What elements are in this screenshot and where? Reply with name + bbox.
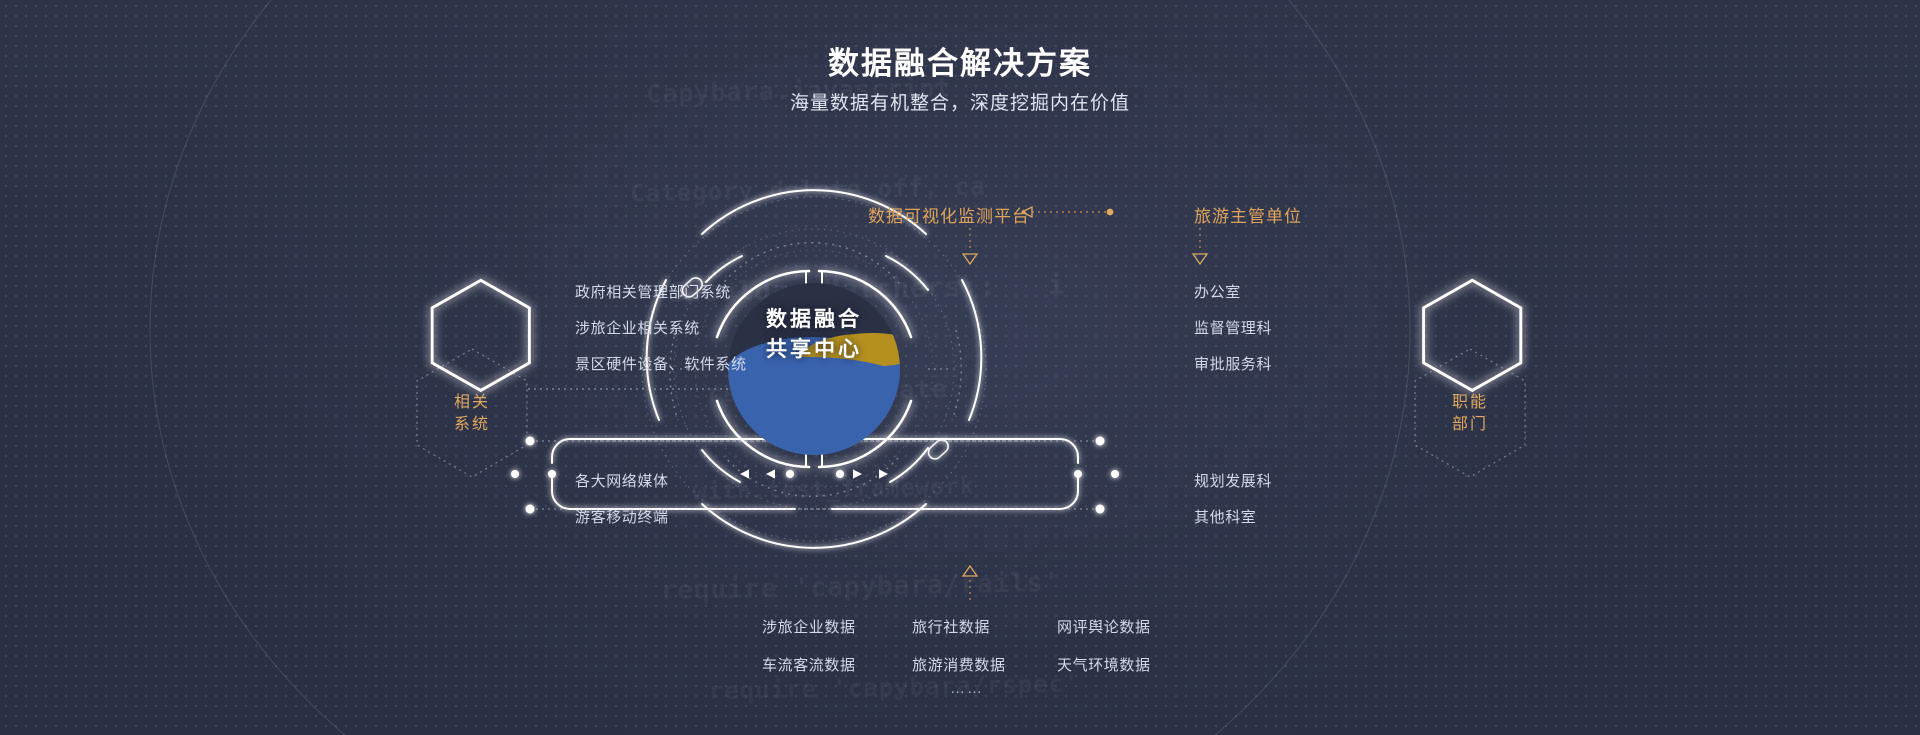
right-label-office[interactable]: 办公室 xyxy=(1194,281,1241,302)
left-label-tourist-mobile-terminal[interactable]: 游客移动终端 xyxy=(575,506,669,527)
left-arrow-head-2 xyxy=(766,469,775,478)
outer-arc-right xyxy=(962,280,981,420)
left-label-tourism-enterprise-systems[interactable]: 涉旅企业相关系统 xyxy=(575,317,700,338)
outer-arc-bottom xyxy=(702,504,926,548)
background-code-text: Capybara.javascript Category delete off,… xyxy=(635,4,1266,537)
bg-code-line: require 'capybara/rails' xyxy=(660,556,1267,614)
second-arc-a xyxy=(706,256,742,282)
bottom-label-ellipsis: …… xyxy=(950,680,984,697)
right-bracket-joint-dot xyxy=(1074,470,1082,478)
left-arrow-head-1 xyxy=(740,469,749,478)
right-hexagon-label[interactable]: 职能 部门 xyxy=(1410,392,1530,436)
core-wave-blue-front xyxy=(728,357,900,455)
dotted-arc-bottom xyxy=(724,456,898,496)
core-label: 数据融合 共享中心 xyxy=(728,305,900,365)
second-arc-b xyxy=(886,256,928,290)
dotted-arc-left xyxy=(670,330,678,420)
right-hexagon[interactable] xyxy=(1415,280,1525,477)
left-arrow-origin-dot xyxy=(786,470,794,478)
right-arrow-origin-dot xyxy=(836,470,844,478)
bottom-label-traffic-data[interactable]: 车流客流数据 xyxy=(762,654,856,675)
left-hexagon[interactable] xyxy=(417,280,529,477)
right-arrow-head-1 xyxy=(879,469,888,478)
left-dot-upper xyxy=(526,437,535,446)
node-tourism-authority[interactable]: 旅游主管单位 xyxy=(1194,202,1302,227)
solution-diagram-canvas: Capybara.javascript Category delete off,… xyxy=(0,0,1920,735)
left-hexagon-outline xyxy=(432,280,529,390)
core-label-line1: 数据融合 xyxy=(728,305,900,335)
right-label-approval-service-dept[interactable]: 审批服务科 xyxy=(1194,353,1272,374)
bottom-label-consumption-data[interactable]: 旅游消费数据 xyxy=(912,654,1006,675)
left-label-network-media[interactable]: 各大网络媒体 xyxy=(575,470,669,491)
left-label-gov-systems[interactable]: 政府相关管理部门系统 xyxy=(575,281,731,302)
bottom-label-travel-agency-data[interactable]: 旅行社数据 xyxy=(912,616,990,637)
right-label-planning-dept[interactable]: 规划发展科 xyxy=(1194,470,1272,491)
left-node-drop-arrow xyxy=(963,254,977,264)
bottom-label-weather-env-data[interactable]: 天气环境数据 xyxy=(1057,654,1151,675)
right-hexagon-label-line2: 部门 xyxy=(1410,414,1530,436)
right-dot-lower xyxy=(1096,505,1105,514)
left-bracket-joint-dot xyxy=(548,470,556,478)
right-label-other-depts[interactable]: 其他科室 xyxy=(1194,506,1256,527)
dotted-arc-top xyxy=(720,243,900,287)
arc-node-lower-right xyxy=(926,437,951,461)
right-node-drop-arrow xyxy=(1193,254,1207,264)
page-title: 数据融合解决方案 xyxy=(0,38,1920,83)
bottom-label-enterprise-data[interactable]: 涉旅企业数据 xyxy=(762,616,856,637)
right-hexagon-outline xyxy=(1424,280,1521,390)
node-visualization-platform[interactable]: 数据可视化监测平台 xyxy=(868,202,1030,227)
bg-code-line: with.test_framework xyxy=(692,460,1265,512)
dotted-arc-right xyxy=(952,330,961,420)
top-link-arrow xyxy=(1022,207,1113,217)
right-hexagon-label-line1: 职能 xyxy=(1410,392,1530,414)
right-arrow-head-2 xyxy=(853,469,862,478)
core-label-line2: 共享中心 xyxy=(728,335,900,365)
left-hexagon-label-line1: 相关 xyxy=(412,392,532,414)
left-dot-lower xyxy=(526,505,535,514)
top-link-dot xyxy=(1107,209,1114,216)
left-hexagon-label[interactable]: 相关 系统 xyxy=(412,392,532,436)
vertical-drop-group xyxy=(963,228,1207,264)
right-label-supervision-dept[interactable]: 监督管理科 xyxy=(1194,317,1272,338)
bottom-link-arrowhead xyxy=(963,566,977,576)
bottom-label-review-opinion-data[interactable]: 网评舆论数据 xyxy=(1057,616,1151,637)
left-hexagon-label-line2: 系统 xyxy=(412,414,532,436)
left-label-scenic-hardware-software[interactable]: 景区硬件设备、软件系统 xyxy=(575,353,747,374)
page-subtitle: 海量数据有机整合，深度挖掘内在价值 xyxy=(0,88,1920,115)
right-dot-upper xyxy=(1096,437,1105,446)
bottom-link-arrow xyxy=(963,566,977,600)
left-trunk-endpoint-dot xyxy=(511,470,519,478)
right-trunk-endpoint-dot xyxy=(1111,470,1119,478)
right-bracket-bottom xyxy=(832,478,1078,509)
